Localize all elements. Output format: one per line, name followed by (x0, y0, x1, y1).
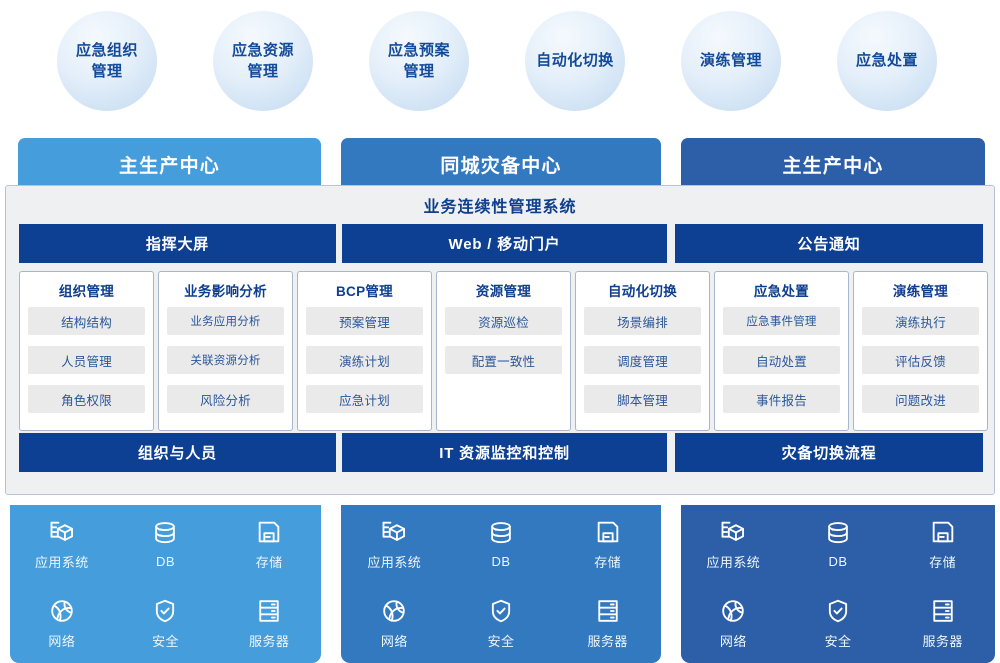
infra-item-security[interactable]: 安全 (151, 597, 179, 650)
module-item[interactable]: 结构结构 (28, 307, 145, 335)
circle-label: 演练管理 (700, 50, 762, 71)
bar-it-resource-monitoring-control[interactable]: IT 资源监控和控制 (342, 433, 667, 472)
capability-circles-row: 应急组织管理应急资源管理应急预案管理自动化切换演练管理应急处置 (0, 0, 1000, 125)
storage-disk-icon (929, 518, 957, 546)
module-card-business-impact-analysis[interactable]: 业务影响分析业务应用分析关联资源分析风险分析 (158, 271, 293, 431)
infra-item-label: 存储 (594, 552, 621, 571)
module-card-title: 业务影响分析 (167, 280, 284, 300)
bar-label: 指挥大屏 (146, 233, 209, 254)
circle-label: 自动化切换 (536, 50, 614, 71)
header-metro-dr-center[interactable]: 同城灾备中心 (341, 138, 661, 191)
module-card-drill-management-module[interactable]: 演练管理演练执行评估反馈问题改进 (853, 271, 988, 431)
bar-label: 灾备切换流程 (782, 442, 877, 463)
infra-item-security[interactable]: 安全 (824, 597, 852, 650)
infra-item-application-system[interactable]: 应用系统 (368, 518, 422, 571)
bcm-system-panel: 业务连续性管理系统 指挥大屏Web / 移动门户公告通知 组织管理结构结构人员管… (5, 185, 995, 495)
storage-disk-icon (594, 518, 622, 546)
system-title: 业务连续性管理系统 (6, 186, 994, 224)
module-item[interactable]: 角色权限 (28, 385, 145, 413)
module-card-title: 资源管理 (445, 280, 562, 300)
module-card-bcp-management[interactable]: BCP管理预案管理演练计划应急计划 (297, 271, 432, 431)
module-item[interactable]: 脚本管理 (584, 385, 701, 413)
infra-item-server[interactable]: 服务器 (249, 597, 289, 650)
header-label: 主生产中心 (782, 151, 883, 178)
infra-item-label: 网络 (381, 631, 408, 650)
module-item[interactable]: 评估反馈 (862, 346, 979, 374)
module-item[interactable]: 关联资源分析 (167, 346, 284, 374)
infra-item-label: 应用系统 (368, 552, 422, 571)
infra-item-label: 应用系统 (35, 552, 89, 571)
module-card-automated-switchover-module[interactable]: 自动化切换场景编排调度管理脚本管理 (575, 271, 710, 431)
circle-label-line1: 演练管理 (700, 50, 762, 71)
server-rack-icon (929, 597, 957, 625)
infra-item-security[interactable]: 安全 (487, 597, 515, 650)
infra-item-application-system[interactable]: 应用系统 (35, 518, 89, 571)
app-cube-icon (380, 518, 408, 546)
circle-label-line1: 应急预案 (388, 40, 450, 61)
infra-item-application-system[interactable]: 应用系统 (707, 518, 761, 571)
network-globe-icon (380, 597, 408, 625)
bar-announcement-notice[interactable]: 公告通知 (675, 224, 983, 263)
storage-disk-icon (255, 518, 283, 546)
module-item[interactable]: 预案管理 (306, 307, 423, 335)
app-cube-icon (48, 518, 76, 546)
circle-emergency-org-management[interactable]: 应急组织管理 (57, 11, 157, 111)
infra-item-label: 网络 (720, 631, 747, 650)
module-item[interactable]: 演练计划 (306, 346, 423, 374)
infra-item-label: 存储 (929, 552, 956, 571)
module-cards-row: 组织管理结构结构人员管理角色权限业务影响分析业务应用分析关联资源分析风险分析BC… (6, 271, 994, 433)
circle-emergency-response[interactable]: 应急处置 (837, 11, 937, 111)
infra-item-storage[interactable]: 存储 (255, 518, 283, 571)
module-item[interactable]: 问题改进 (862, 385, 979, 413)
infra-item-label: DB (156, 554, 175, 569)
infra-panel-primary: 应用系统DB存储网络安全服务器 (10, 505, 321, 663)
infra-item-label: 服务器 (923, 631, 963, 650)
diagram-root: 应急组织管理应急资源管理应急预案管理自动化切换演练管理应急处置 主生产中心同城灾… (0, 0, 1000, 663)
module-item[interactable]: 资源巡检 (445, 307, 562, 335)
module-card-title: 应急处置 (723, 280, 840, 300)
bar-label: 公告通知 (797, 233, 860, 254)
infra-item-network[interactable]: 网络 (380, 597, 408, 650)
infra-item-storage[interactable]: 存储 (929, 518, 957, 571)
circle-label-line1: 应急资源 (232, 40, 294, 61)
bar-label: 组织与人员 (138, 442, 217, 463)
bar-web-mobile-portal[interactable]: Web / 移动门户 (342, 224, 667, 263)
circle-emergency-plan-management[interactable]: 应急预案管理 (369, 11, 469, 111)
module-card-title: BCP管理 (306, 280, 423, 300)
bar-label: Web / 移动门户 (449, 233, 561, 254)
circle-label-line1: 应急处置 (856, 50, 918, 71)
circle-emergency-resource-management[interactable]: 应急资源管理 (213, 11, 313, 111)
header-label: 同城灾备中心 (440, 151, 561, 178)
server-rack-icon (594, 597, 622, 625)
bar-organization-and-personnel[interactable]: 组织与人员 (19, 433, 336, 472)
circle-label: 应急预案管理 (388, 40, 450, 83)
shield-check-icon (151, 597, 179, 625)
infra-item-storage[interactable]: 存储 (594, 518, 622, 571)
circle-label: 应急处置 (856, 50, 918, 71)
module-item[interactable]: 应急事件管理 (723, 307, 840, 335)
infra-item-label: 服务器 (588, 631, 628, 650)
circle-label-line2: 管理 (76, 61, 138, 82)
infra-item-database[interactable]: DB (487, 520, 515, 569)
database-icon (487, 520, 515, 548)
circle-label-line1: 自动化切换 (536, 50, 614, 71)
header-primary-production-center-2[interactable]: 主生产中心 (681, 138, 985, 191)
app-cube-icon (719, 518, 747, 546)
module-item[interactable]: 风险分析 (167, 385, 284, 413)
infra-panel-metro-dr: 应用系统DB存储网络安全服务器 (341, 505, 661, 663)
infra-item-server[interactable]: 服务器 (923, 597, 963, 650)
circle-drill-management[interactable]: 演练管理 (681, 11, 781, 111)
circle-automated-switchover[interactable]: 自动化切换 (525, 11, 625, 111)
module-item[interactable]: 场景编排 (584, 307, 701, 335)
infra-item-label: DB (829, 554, 848, 569)
infra-item-server[interactable]: 服务器 (588, 597, 628, 650)
infra-item-database[interactable]: DB (824, 520, 852, 569)
module-item[interactable]: 人员管理 (28, 346, 145, 374)
database-icon (151, 520, 179, 548)
module-card-emergency-response-module[interactable]: 应急处置应急事件管理自动处置事件报告 (714, 271, 849, 431)
infra-item-label: 安全 (488, 631, 515, 650)
infra-item-network[interactable]: 网络 (719, 597, 747, 650)
infra-item-label: DB (492, 554, 511, 569)
bar-command-dashboard[interactable]: 指挥大屏 (19, 224, 336, 263)
network-globe-icon (719, 597, 747, 625)
top-bars-row: 指挥大屏Web / 移动门户公告通知 (6, 224, 994, 263)
circle-label: 应急资源管理 (232, 40, 294, 83)
bottom-bars-row: 组织与人员IT 资源监控和控制灾备切换流程 (6, 433, 994, 472)
module-item[interactable]: 演练执行 (862, 307, 979, 335)
shield-check-icon (487, 597, 515, 625)
infra-item-network[interactable]: 网络 (48, 597, 76, 650)
bar-label: IT 资源监控和控制 (439, 442, 570, 463)
module-item[interactable]: 自动处置 (723, 346, 840, 374)
circle-label: 应急组织管理 (76, 40, 138, 83)
shield-check-icon (824, 597, 852, 625)
circle-label-line2: 管理 (232, 61, 294, 82)
header-primary-production-center[interactable]: 主生产中心 (18, 138, 321, 191)
module-card-org-management[interactable]: 组织管理结构结构人员管理角色权限 (19, 271, 154, 431)
circle-label-line2: 管理 (388, 61, 450, 82)
infra-item-label: 存储 (256, 552, 283, 571)
module-item[interactable]: 业务应用分析 (167, 307, 284, 335)
infra-item-label: 服务器 (249, 631, 289, 650)
module-item[interactable]: 配置一致性 (445, 346, 562, 374)
infra-item-label: 安全 (825, 631, 852, 650)
module-item[interactable]: 事件报告 (723, 385, 840, 413)
module-item[interactable]: 调度管理 (584, 346, 701, 374)
infra-item-label: 安全 (152, 631, 179, 650)
header-label: 主生产中心 (119, 151, 220, 178)
bar-dr-switchover-process[interactable]: 灾备切换流程 (675, 433, 983, 472)
module-card-resource-management[interactable]: 资源管理资源巡检配置一致性 (436, 271, 571, 431)
database-icon (824, 520, 852, 548)
circle-label-line1: 应急组织 (76, 40, 138, 61)
infra-item-database[interactable]: DB (151, 520, 179, 569)
network-globe-icon (48, 597, 76, 625)
server-rack-icon (255, 597, 283, 625)
infra-item-label: 应用系统 (707, 552, 761, 571)
module-card-title: 演练管理 (862, 280, 979, 300)
module-card-title: 组织管理 (28, 280, 145, 300)
infra-item-label: 网络 (48, 631, 75, 650)
infra-panel-primary-2: 应用系统DB存储网络安全服务器 (681, 505, 995, 663)
module-card-title: 自动化切换 (584, 280, 701, 300)
module-item[interactable]: 应急计划 (306, 385, 423, 413)
